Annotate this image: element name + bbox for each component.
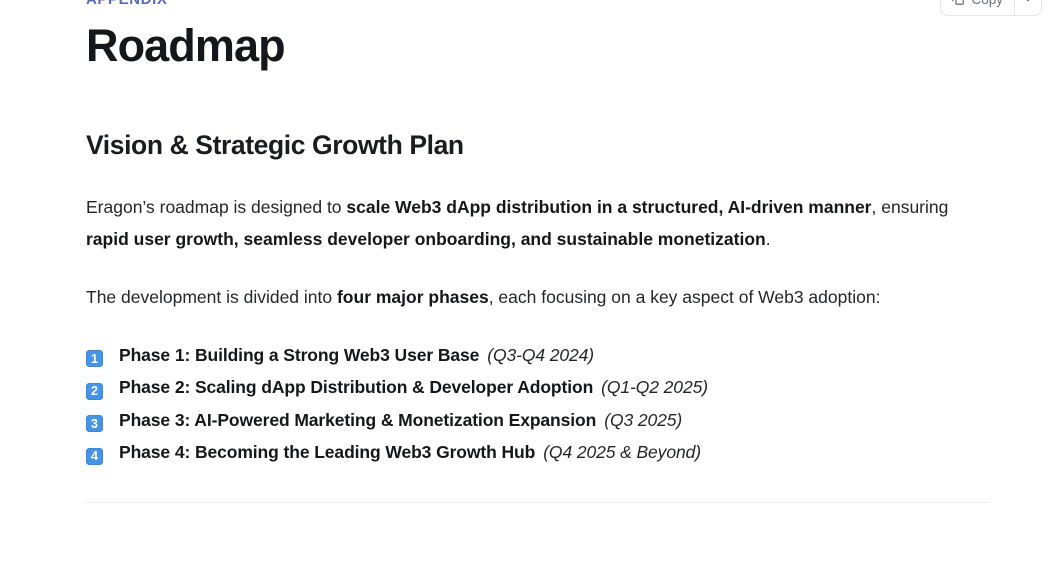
list-item: 2 Phase 2: Scaling dApp Distribution & D…: [86, 371, 990, 404]
intro-paragraph: Eragon’s roadmap is designed to scale We…: [86, 163, 990, 255]
phase-period: (Q3 2025): [604, 404, 682, 437]
list-item: 1 Phase 1: Building a Strong Web3 User B…: [86, 339, 990, 372]
phase-list: 1 Phase 1: Building a Strong Web3 User B…: [86, 313, 990, 469]
keycap-number-icon: 4: [86, 448, 103, 465]
section-heading: Vision & Strategic Growth Plan: [86, 71, 990, 162]
document-page: Copy APPENDIX Roadmap Vision & Strategic…: [0, 0, 1050, 576]
document-content: Roadmap Vision & Strategic Growth Plan E…: [86, 0, 990, 503]
phase-label: Phase 1: Building a Strong Web3 User Bas…: [119, 339, 479, 372]
phase-period: (Q4 2025 & Beyond): [543, 436, 701, 469]
phase-period: (Q1-Q2 2025): [601, 371, 708, 404]
copy-options-button[interactable]: [1015, 0, 1041, 15]
list-item: 4 Phase 4: Becoming the Leading Web3 Gro…: [86, 436, 990, 469]
keycap-number-icon: 2: [86, 383, 103, 400]
phase-period: (Q3-Q4 2024): [487, 339, 594, 372]
page-title: Roadmap: [86, 0, 990, 71]
chevron-down-icon: [1023, 0, 1033, 7]
phase-label: Phase 4: Becoming the Leading Web3 Growt…: [119, 436, 535, 469]
phase-label: Phase 2: Scaling dApp Distribution & Dev…: [119, 371, 593, 404]
keycap-number-icon: 1: [86, 350, 103, 367]
list-item: 3 Phase 3: AI-Powered Marketing & Moneti…: [86, 404, 990, 437]
section-divider: [86, 502, 990, 503]
phase-label: Phase 3: AI-Powered Marketing & Monetiza…: [119, 404, 596, 437]
phases-intro-paragraph: The development is divided into four maj…: [86, 255, 990, 313]
keycap-number-icon: 3: [86, 415, 103, 432]
